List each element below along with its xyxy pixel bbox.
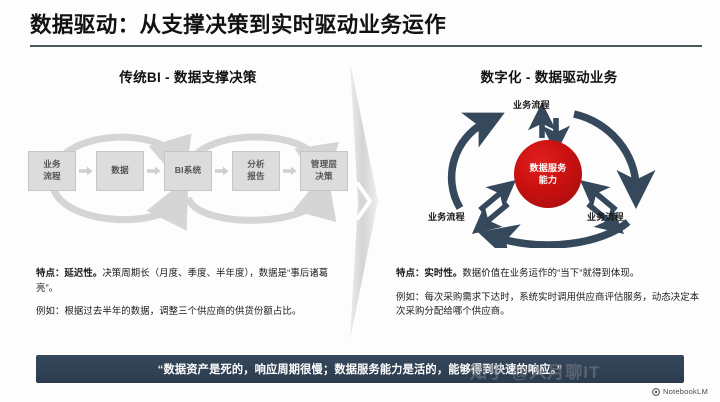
left-point-lead: 特点：延迟性。 xyxy=(36,267,102,278)
arrow-right-icon xyxy=(215,166,229,176)
flow-step-label-line2: 决策 xyxy=(315,171,333,183)
flow-step-business-process[interactable]: 业务 流程 xyxy=(28,151,76,191)
flow-step-label-line2: 报告 xyxy=(247,171,265,183)
left-column-header: 传统BI - 数据支撑决策 xyxy=(28,66,348,86)
right-example-paragraph: 例如：每次采购需求下达时，系统实时调用供应商评估服务，动态决定本次采购分配给哪个… xyxy=(396,290,702,319)
title-underline-rule xyxy=(30,45,702,47)
slide-canvas: 数据驱动：从支撑决策到实时驱动业务运作 传统BI - 数据支撑决策 数字化 - … xyxy=(0,0,720,402)
left-column-body: 特点：延迟性。决策周期长（月度、季度、半年度），数据是“事后诸葛亮”。 例如：根… xyxy=(36,266,340,319)
page-title: 数据驱动：从支撑决策到实时驱动业务运作 xyxy=(30,12,702,39)
quote-text: “数据资产是死的，响应周期很慢；数据服务能力是活的，能够得到快速的响应。” xyxy=(158,361,563,377)
flow-connector-arrow xyxy=(147,166,161,176)
right-point-lead: 特点：实时性。 xyxy=(396,267,462,278)
core-label-line1: 数据服务 xyxy=(530,162,567,174)
flow-step-label-line1: 管理层 xyxy=(311,159,337,171)
flow-step-data[interactable]: 数据 xyxy=(96,151,144,191)
left-example-paragraph: 例如：根据过去半年的数据，调整三个供应商的供货份额占比。 xyxy=(36,304,340,319)
notebooklm-logo-icon xyxy=(652,388,660,396)
title-block: 数据驱动：从支撑决策到实时驱动业务运作 xyxy=(30,12,702,47)
data-driven-cycle-diagram: 数据服务 能力 业务流程 业务流程 业务流程 xyxy=(396,92,702,248)
cycle-node-label-bottom-right: 业务流程 xyxy=(587,210,624,223)
footer-brand-label: NotebookLM xyxy=(663,387,708,396)
right-example-rest: 每次采购需求下达时，系统实时调用供应商评估服务，动态决定本次采购分配给哪个供应商… xyxy=(396,291,699,317)
right-point-paragraph: 特点：实时性。数据价值在业务运作的“当下”就得到体现。 xyxy=(396,266,702,281)
flow-step-label-line1: 业务 xyxy=(43,159,61,171)
arrow-right-icon xyxy=(79,166,93,176)
flow-connector-arrow xyxy=(283,166,297,176)
right-column-header: 数字化 - 数据驱动业务 xyxy=(392,66,706,86)
left-example-rest: 根据过去半年的数据，调整三个供应商的供货份额占比。 xyxy=(64,305,301,316)
flow-step-row: 业务 流程 数据 BI系统 xyxy=(28,142,348,200)
flow-step-analysis-report[interactable]: 分析 报告 xyxy=(232,151,280,191)
flow-connector-arrow xyxy=(79,166,93,176)
flow-step-label-line1: BI系统 xyxy=(175,165,202,177)
cycle-node-label-bottom-left: 业务流程 xyxy=(428,210,465,223)
right-column-body: 特点：实时性。数据价值在业务运作的“当下”就得到体现。 例如：每次采购需求下达时… xyxy=(396,266,702,319)
left-column: 传统BI - 数据支撑决策 xyxy=(28,66,348,86)
arrow-right-icon xyxy=(147,166,161,176)
bi-flow-diagram: 业务 流程 数据 BI系统 xyxy=(28,106,348,236)
flow-step-bi-system[interactable]: BI系统 xyxy=(164,151,212,191)
flow-step-label-line1: 分析 xyxy=(247,159,265,171)
flow-step-label-line1: 数据 xyxy=(111,165,129,177)
flow-step-management-decision[interactable]: 管理层 决策 xyxy=(300,151,348,191)
left-example-lead: 例如： xyxy=(36,305,64,316)
arrow-right-icon xyxy=(283,166,297,176)
right-column: 数字化 - 数据驱动业务 xyxy=(392,66,706,86)
footer-brand: NotebookLM xyxy=(652,387,708,396)
core-capability-circle[interactable]: 数据服务 能力 xyxy=(514,140,582,208)
flow-step-label-line2: 流程 xyxy=(43,171,61,183)
flow-connector-arrow xyxy=(215,166,229,176)
right-point-rest: 数据价值在业务运作的“当下”就得到体现。 xyxy=(462,267,639,278)
core-label-line2: 能力 xyxy=(539,174,557,186)
left-point-paragraph: 特点：延迟性。决策周期长（月度、季度、半年度），数据是“事后诸葛亮”。 xyxy=(36,266,340,295)
chevron-right-icon xyxy=(344,62,388,340)
column-divider xyxy=(344,62,388,340)
quote-banner: “数据资产是死的，响应周期很慢；数据服务能力是活的，能够得到快速的响应。” xyxy=(36,355,684,383)
right-example-lead: 例如： xyxy=(396,291,424,302)
cycle-node-label-top: 业务流程 xyxy=(513,98,550,111)
